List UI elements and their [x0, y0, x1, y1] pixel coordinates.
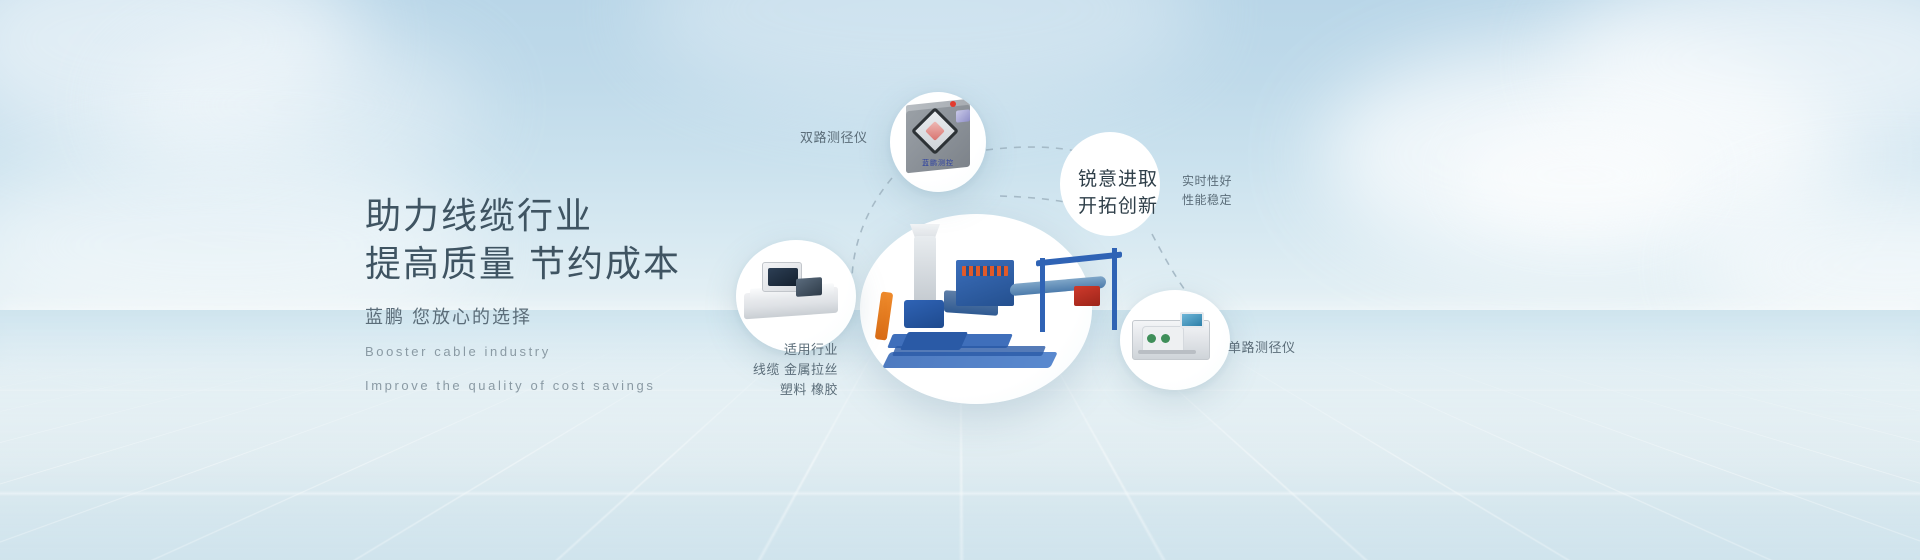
machine-cabinet-vent — [962, 266, 1008, 276]
console-screen — [768, 268, 798, 286]
machine-motor — [904, 300, 944, 328]
slogan-line-2: 开拓创新 — [1072, 193, 1164, 220]
machine-gantry-leg-right — [1112, 248, 1117, 330]
cloud-decor-1 — [0, 0, 360, 150]
gauge-module — [956, 109, 970, 122]
industry-note: 适用行业 线缆 金属拉丝 塑料 橡胶 — [718, 340, 838, 400]
console-bubble — [736, 240, 856, 352]
hero-banner: 助力线缆行业 提高质量 节约成本 蓝鹏 您放心的选择 Booster cable… — [0, 0, 1920, 560]
performance-line-1: 实时性好 — [1182, 172, 1232, 191]
cloud-decor-2 — [120, 30, 480, 180]
label-single-gauge: 单路测径仪 — [1228, 338, 1296, 358]
single-gauge-display — [1180, 312, 1204, 328]
industry-line-2: 塑料 橡胶 — [718, 380, 838, 400]
machine-blue-platform — [900, 332, 968, 350]
single-gauge-bubble — [1120, 290, 1230, 390]
machine-orange-duct — [875, 291, 894, 340]
industry-line-1: 线缆 金属拉丝 — [718, 360, 838, 380]
single-gauge-rail — [1138, 350, 1196, 354]
slogan-line-1: 锐意进取 — [1072, 166, 1164, 193]
industry-title: 适用行业 — [718, 340, 838, 360]
main-product-bubble — [860, 214, 1092, 404]
device-brand-text: 蓝鹏测控 — [890, 158, 986, 168]
machine-tower — [914, 236, 936, 306]
gauge-power-led-icon — [950, 101, 956, 107]
slogan-block: 锐意进取 开拓创新 — [1072, 166, 1164, 220]
product-diagram: 蓝鹏测控 锐意进取 开拓创新 双路测径仪 单路测径仪 — [700, 0, 1920, 560]
console-control-box — [796, 277, 822, 297]
performance-note: 实时性好 性能稳定 — [1182, 172, 1232, 210]
dual-gauge-bubble: 蓝鹏测控 — [890, 92, 986, 192]
single-gauge-roller-left-icon — [1147, 334, 1156, 343]
label-dual-gauge: 双路测径仪 — [800, 128, 868, 148]
machine-gantry-leg-left — [1040, 258, 1045, 332]
machine-red-unit — [1074, 286, 1100, 306]
performance-line-2: 性能稳定 — [1182, 191, 1232, 210]
single-gauge-roller-right-icon — [1161, 334, 1170, 343]
